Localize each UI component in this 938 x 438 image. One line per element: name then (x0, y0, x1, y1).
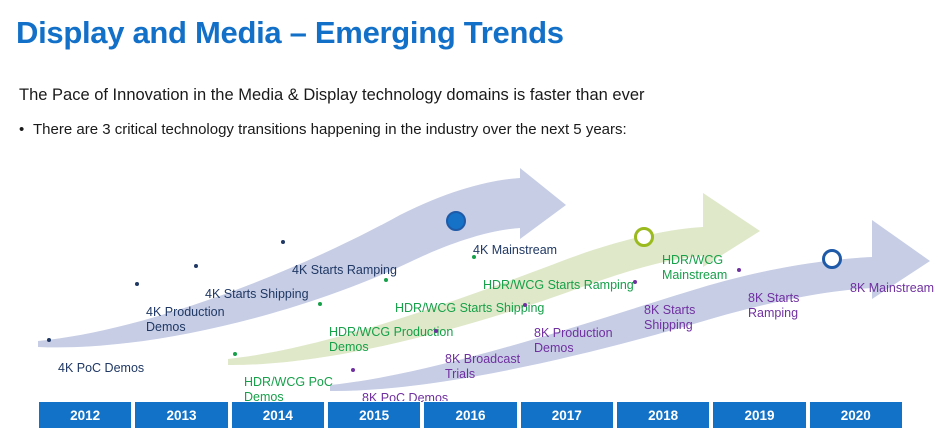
milestone-8k-starts-shipping: 8K Starts Shipping (644, 274, 695, 332)
milestone-bullet-icon (318, 302, 322, 306)
milestone-8k-starts-ramping: 8K Starts Ramping (748, 262, 799, 320)
timeline-year-bar: 2012 2013 2014 2015 2016 2017 2018 2019 … (38, 401, 903, 429)
milestone-bullet-icon (472, 255, 476, 259)
milestone-label: HDR/WCG Starts Ramping (483, 278, 634, 292)
year-cell[interactable]: 2012 (38, 401, 132, 429)
milestone-bullet-icon (384, 278, 388, 282)
endpoint-8k-mainstream: 8K Mainstream (850, 252, 934, 296)
milestone-bullet-icon (47, 338, 51, 342)
milestone-bullet-icon (523, 303, 527, 307)
endpoint-label: 8K Mainstream (850, 281, 934, 295)
technology-transitions-diagram: 4K PoC Demos 4K Production Demos 4K Star… (0, 0, 938, 438)
milestone-bullet-icon (233, 352, 237, 356)
milestone-bullet-icon (351, 368, 355, 372)
year-cell[interactable]: 2017 (520, 401, 614, 429)
milestone-bullet-icon (434, 329, 438, 333)
year-cell[interactable]: 2018 (616, 401, 710, 429)
year-cell[interactable]: 2019 (712, 401, 806, 429)
milestone-bullet-icon (281, 240, 285, 244)
milestone-hdr-starts-ramping: HDR/WCG Starts Ramping (483, 249, 634, 293)
milestone-label: 4K Starts Ramping (292, 263, 397, 277)
milestone-4k-poc-demos: 4K PoC Demos (58, 332, 144, 376)
milestone-label: 8K Production Demos (534, 326, 613, 355)
milestone-bullet-icon (194, 264, 198, 268)
milestone-bullet-icon (737, 268, 741, 272)
year-cell[interactable]: 2014 (231, 401, 325, 429)
milestone-label: 4K Starts Shipping (205, 287, 309, 301)
milestone-4k-starts-ramping: 4K Starts Ramping (292, 234, 397, 278)
hollow-circle-marker (634, 227, 654, 247)
milestone-label: 8K Starts Ramping (748, 291, 799, 320)
year-cell[interactable]: 2016 (423, 401, 517, 429)
milestone-bullet-icon (633, 280, 637, 284)
milestone-label: 8K Starts Shipping (644, 303, 695, 332)
year-cell[interactable]: 2015 (327, 401, 421, 429)
milestone-label: HDR/WCG Starts Shipping (395, 301, 544, 315)
milestone-8k-production-demos: 8K Production Demos (534, 297, 613, 355)
milestone-label: HDR/WCG PoC Demos (244, 375, 333, 404)
year-cell[interactable]: 2013 (134, 401, 228, 429)
milestone-8k-poc-demos: 8K PoC Demos (362, 362, 448, 406)
milestone-8k-broadcast-trials: 8K Broadcast Trials (445, 323, 520, 381)
milestone-bullet-icon (135, 282, 139, 286)
hollow-circle-marker (822, 249, 842, 269)
milestone-label: 4K PoC Demos (58, 361, 144, 375)
slide-canvas: Display and Media – Emerging Trends The … (0, 0, 938, 438)
milestone-hdr-poc-demos: HDR/WCG PoC Demos (244, 346, 333, 404)
filled-circle-marker (446, 211, 466, 231)
year-cell[interactable]: 2020 (809, 401, 903, 429)
milestone-label: 8K Broadcast Trials (445, 352, 520, 381)
milestone-label: 4K Production Demos (146, 305, 225, 334)
